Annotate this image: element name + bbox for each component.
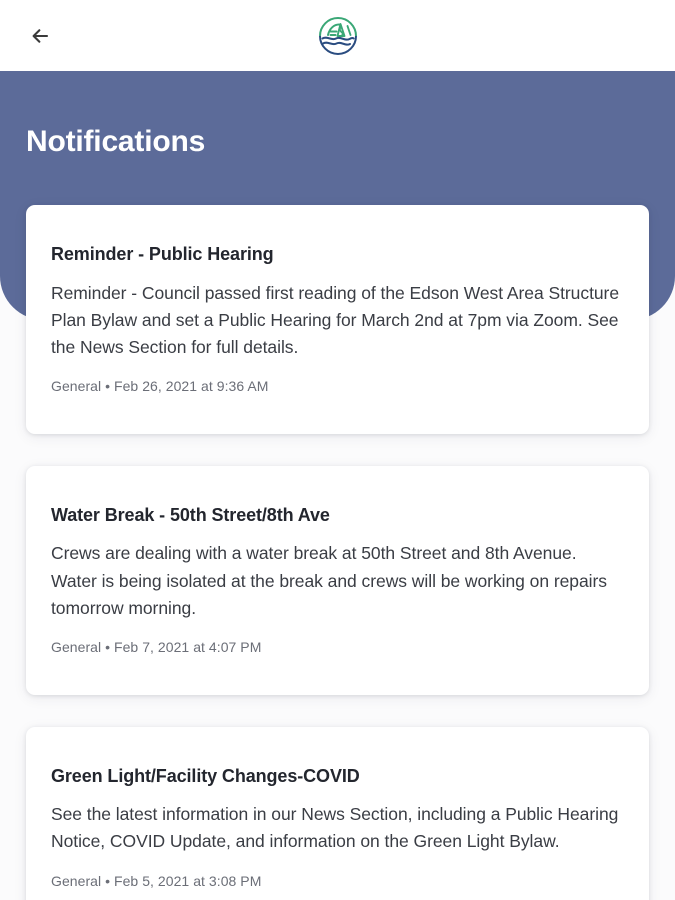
notification-list: Reminder - Public Hearing Reminder - Cou… — [0, 205, 675, 900]
page-title: Notifications — [26, 125, 205, 158]
notification-card[interactable]: Green Light/Facility Changes-COVID See t… — [26, 727, 649, 900]
notification-body: See the latest information in our News S… — [51, 801, 624, 855]
town-crest-logo — [315, 13, 361, 59]
notification-title: Water Break - 50th Street/8th Ave — [51, 504, 624, 527]
notification-body: Crews are dealing with a water break at … — [51, 540, 624, 621]
notifications-screen: Notifications Reminder - Public Hearing … — [0, 0, 675, 900]
notification-meta: General • Feb 5, 2021 at 3:08 PM — [51, 873, 624, 889]
notification-card[interactable]: Reminder - Public Hearing Reminder - Cou… — [26, 205, 649, 434]
notification-body: Reminder - Council passed first reading … — [51, 280, 624, 361]
app-bar — [0, 0, 675, 71]
notification-card[interactable]: Water Break - 50th Street/8th Ave Crews … — [26, 466, 649, 695]
arrow-left-icon — [27, 21, 57, 51]
notification-title: Green Light/Facility Changes-COVID — [51, 765, 624, 788]
notification-meta: General • Feb 26, 2021 at 9:36 AM — [51, 378, 624, 394]
notification-title: Reminder - Public Hearing — [51, 243, 624, 266]
notification-meta: General • Feb 7, 2021 at 4:07 PM — [51, 639, 624, 655]
back-button[interactable] — [20, 14, 64, 58]
